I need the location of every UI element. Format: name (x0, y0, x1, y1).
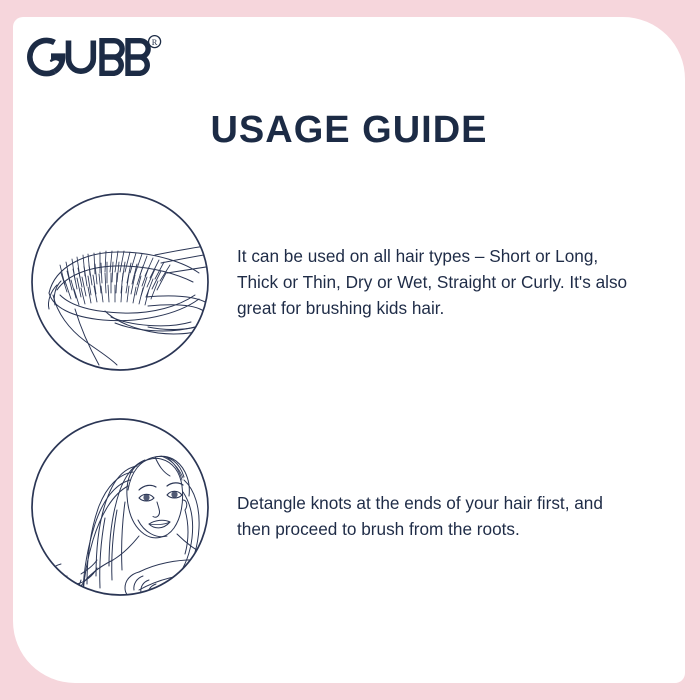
brand-logo: R (24, 27, 174, 87)
step-2-illustration-wrap (13, 414, 227, 600)
svg-text:R: R (152, 38, 158, 47)
step-2-text: Detangle knots at the ends of your hair … (237, 414, 637, 542)
usage-guide-page: R USAGE GUIDE (0, 0, 700, 700)
step-1-text: It can be used on all hair types – Short… (237, 189, 637, 321)
woman-brushing-hair-line-art-icon (27, 414, 213, 600)
content-card: R USAGE GUIDE (13, 17, 685, 683)
usage-step-1: It can be used on all hair types – Short… (13, 189, 637, 375)
step-1-illustration-wrap (13, 189, 227, 375)
page-title: USAGE GUIDE (13, 109, 685, 152)
gubb-wordmark-logo-icon: R (24, 27, 174, 87)
usage-step-2: Detangle knots at the ends of your hair … (13, 414, 637, 600)
hairbrush-line-art-icon (27, 189, 213, 375)
